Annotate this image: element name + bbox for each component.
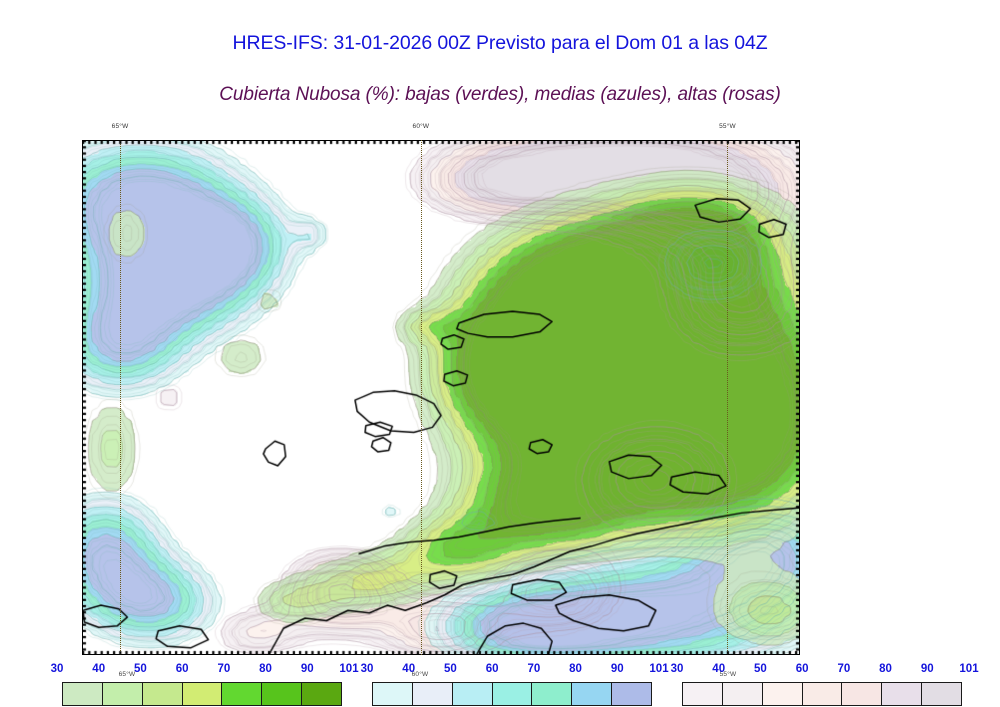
colorbar-tick-bajas-101: 101 bbox=[339, 663, 358, 675]
colorbar-tick-altas-40: 40 bbox=[712, 663, 725, 675]
colorbar-swatch-medias-2 bbox=[453, 683, 493, 705]
colorbar-swatch-altas-5 bbox=[882, 683, 922, 705]
longitude-label-1: 60°W bbox=[413, 123, 430, 130]
colorbar-swatch-bajas-5 bbox=[262, 683, 302, 705]
colorbar-swatch-medias-5 bbox=[572, 683, 612, 705]
colorbar-medias: 30405060708090101 bbox=[372, 663, 652, 707]
colorbar-tick-medias-50: 50 bbox=[444, 663, 457, 675]
colorbar-tick-medias-60: 60 bbox=[486, 663, 499, 675]
colorbar-ticks-bajas: 30405060708090101 bbox=[62, 663, 342, 678]
colorbar-swatch-medias-4 bbox=[532, 683, 572, 705]
page-title: HRES-IFS: 31-01-2026 00Z Previsto para e… bbox=[0, 32, 1000, 55]
colorbar-tick-medias-80: 80 bbox=[569, 663, 582, 675]
colorbar-tick-bajas-30: 30 bbox=[51, 663, 64, 675]
colorbar-tick-altas-50: 50 bbox=[754, 663, 767, 675]
page-subtitle: Cubierta Nubosa (%): bajas (verdes), med… bbox=[0, 84, 1000, 106]
colorbar-altas: 30405060708090101 bbox=[682, 663, 962, 707]
colorbar-tick-bajas-70: 70 bbox=[217, 663, 230, 675]
map-container: 65°W60°W55°W bbox=[82, 140, 800, 655]
colorbar-swatch-altas-3 bbox=[803, 683, 843, 705]
colorbar-tick-bajas-80: 80 bbox=[259, 663, 272, 675]
colorbar-tick-bajas-60: 60 bbox=[176, 663, 189, 675]
colorbar-swatch-bajas-2 bbox=[143, 683, 183, 705]
colorbar-swatch-altas-1 bbox=[723, 683, 763, 705]
colorbar-tick-altas-30: 30 bbox=[671, 663, 684, 675]
colorbar-tick-medias-40: 40 bbox=[402, 663, 415, 675]
colorbar-tick-altas-80: 80 bbox=[879, 663, 892, 675]
colorbar-tick-altas-70: 70 bbox=[837, 663, 850, 675]
colorbar-ticks-medias: 30405060708090101 bbox=[372, 663, 652, 678]
colorbar-swatch-bajas-3 bbox=[183, 683, 223, 705]
colorbar-strip-altas[interactable] bbox=[682, 682, 962, 706]
colorbar-swatch-bajas-0 bbox=[63, 683, 103, 705]
colorbar-bajas: 30405060708090101 bbox=[62, 663, 342, 707]
colorbar-swatch-altas-2 bbox=[763, 683, 803, 705]
colorbar-tick-medias-70: 70 bbox=[527, 663, 540, 675]
colorbar-swatch-medias-3 bbox=[493, 683, 533, 705]
colorbar-swatch-bajas-4 bbox=[222, 683, 262, 705]
longitude-label-2: 55°W bbox=[719, 123, 736, 130]
colorbar-tick-bajas-50: 50 bbox=[134, 663, 147, 675]
colorbar-strip-medias[interactable] bbox=[372, 682, 652, 706]
colorbar-strip-bajas[interactable] bbox=[62, 682, 342, 706]
map-frame[interactable] bbox=[82, 140, 800, 655]
colorbar-swatch-medias-0 bbox=[373, 683, 413, 705]
colorbar-swatch-bajas-6 bbox=[302, 683, 341, 705]
colorbar-tick-medias-101: 101 bbox=[649, 663, 668, 675]
colorbar-swatch-altas-6 bbox=[922, 683, 961, 705]
colorbar-tick-bajas-90: 90 bbox=[301, 663, 314, 675]
colorbar-tick-altas-60: 60 bbox=[796, 663, 809, 675]
colorbar-tick-medias-30: 30 bbox=[361, 663, 374, 675]
colorbar-swatch-medias-1 bbox=[413, 683, 453, 705]
colorbar-swatch-medias-6 bbox=[612, 683, 651, 705]
colorbar-ticks-altas: 30405060708090101 bbox=[682, 663, 962, 678]
colorbar-swatch-altas-4 bbox=[842, 683, 882, 705]
colorbar-swatch-altas-0 bbox=[683, 683, 723, 705]
colorbar-tick-medias-90: 90 bbox=[611, 663, 624, 675]
cloud-cover-map[interactable] bbox=[83, 141, 799, 654]
colorbar-tick-altas-90: 90 bbox=[921, 663, 934, 675]
colorbar-tick-altas-101: 101 bbox=[959, 663, 978, 675]
colorbar-swatch-bajas-1 bbox=[103, 683, 143, 705]
longitude-label-0: 65°W bbox=[112, 123, 129, 130]
colorbar-tick-bajas-40: 40 bbox=[92, 663, 105, 675]
